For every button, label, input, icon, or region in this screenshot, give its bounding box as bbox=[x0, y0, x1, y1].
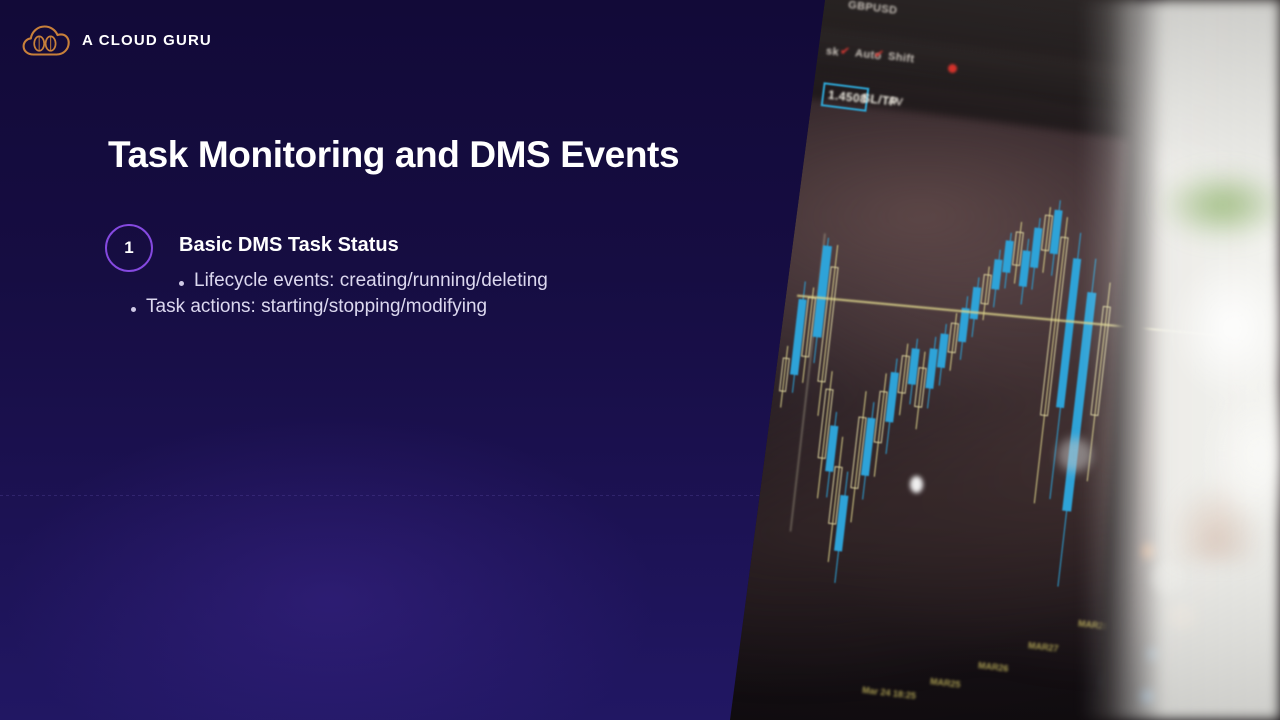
bullet-dot-icon bbox=[131, 307, 136, 312]
list-item-label: Lifecycle events: creating/running/delet… bbox=[194, 270, 548, 292]
slide-content: A CLOUD GURU Task Monitoring and DMS Eve… bbox=[0, 0, 1280, 720]
section-number-badge: 1 bbox=[105, 224, 153, 272]
brand-logo[interactable]: A CLOUD GURU bbox=[22, 24, 212, 57]
list-item: Lifecycle events: creating/running/delet… bbox=[179, 270, 548, 292]
list-item-label: Task actions: starting/stopping/modifyin… bbox=[146, 296, 487, 318]
brand-name: A CLOUD GURU bbox=[82, 32, 212, 49]
page-title: Task Monitoring and DMS Events bbox=[108, 134, 679, 176]
cloud-icon bbox=[22, 24, 70, 57]
section-heading: Basic DMS Task Status bbox=[179, 234, 399, 257]
list-item: Task actions: starting/stopping/modifyin… bbox=[131, 296, 487, 318]
slide-root: GBPUSD sk ✔ Auto ✔ Shift 1.4508 SL/TP AV bbox=[0, 0, 1280, 720]
bullet-dot-icon bbox=[179, 281, 184, 286]
